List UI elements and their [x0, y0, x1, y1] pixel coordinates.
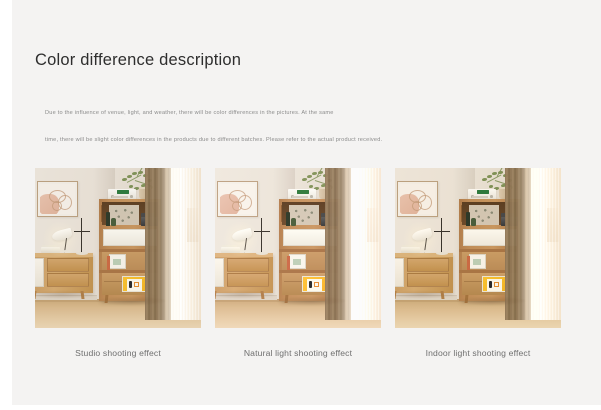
poster-mark-outline [494, 282, 499, 287]
books-on-nightstand [41, 247, 60, 253]
bookshelf-shadow [275, 296, 347, 306]
stand-horizontal [254, 231, 270, 232]
book-stack [109, 254, 126, 269]
gallery-caption: Indoor light shooting effect [395, 348, 561, 358]
stand-vertical [81, 218, 82, 254]
yellow-poster [302, 276, 326, 292]
green-vase [471, 218, 476, 226]
product-photo-indoor-light[interactable] [395, 168, 561, 328]
stereo-tray [112, 196, 128, 198]
art-line-3 [52, 201, 62, 211]
poster-mark-outline [314, 282, 319, 287]
stand-vertical [441, 218, 442, 254]
room-scene [35, 168, 201, 328]
nightstand-drawer-2 [407, 273, 449, 287]
green-vase [291, 218, 296, 226]
book-stack [469, 254, 486, 269]
stand-vertical [261, 218, 262, 254]
stand-horizontal [74, 231, 90, 232]
shelf-handle-left [461, 205, 463, 222]
nightstand-drawer-1 [47, 258, 89, 272]
stereo-knob-right [490, 195, 493, 198]
poster-mark-dark [129, 281, 132, 288]
book-stack [289, 254, 306, 269]
framed-art-icon [37, 181, 78, 217]
shelf-handle-left [281, 205, 283, 222]
nightstand-drawer-1 [227, 258, 269, 272]
sheer-curtain [171, 168, 201, 320]
product-photo-natural-light[interactable] [215, 168, 381, 328]
books-on-nightstand [221, 247, 240, 253]
stand-base [256, 252, 268, 255]
nightstand-shadow [215, 290, 273, 299]
framed-art-icon [397, 181, 438, 217]
stand-base [76, 252, 88, 255]
books-on-nightstand [401, 247, 420, 253]
nightstand-drawer-1 [407, 258, 449, 272]
stereo-tray [472, 196, 488, 198]
green-vase [111, 218, 116, 226]
image-gallery: Studio shooting effect [35, 168, 565, 368]
nightstand-drawer-2 [227, 273, 269, 287]
gallery-caption: Studio shooting effect [35, 348, 201, 358]
nightstand-drawer-2 [47, 273, 89, 287]
dark-bottle [106, 212, 110, 226]
page-title: Color difference description [35, 51, 241, 70]
lamp-base [241, 250, 252, 253]
gallery-item-natural-light[interactable]: Natural light shooting effect [215, 168, 381, 328]
stereo-display [477, 190, 489, 194]
page-root: Color difference description Due to the … [0, 0, 601, 410]
nightstand [395, 253, 453, 293]
sheer-curtain [351, 168, 381, 320]
description-line-1: Due to the influence of venue, light, an… [45, 110, 334, 116]
nightstand-door [35, 258, 44, 287]
gallery-item-indoor-light[interactable]: Indoor light shooting effect [395, 168, 561, 328]
product-photo-studio[interactable] [35, 168, 201, 328]
nightstand [35, 253, 93, 293]
framed-art-icon [217, 181, 258, 217]
room-scene [395, 168, 561, 328]
poster-mark-dark [309, 281, 312, 288]
poster-mark-dark [489, 281, 492, 288]
stereo-display [117, 190, 129, 194]
art-line-3 [232, 201, 242, 211]
lamp-base [61, 250, 72, 253]
stereo-knob-right [130, 195, 133, 198]
dark-bottle [466, 212, 470, 226]
stand-base [436, 252, 448, 255]
yellow-poster [122, 276, 146, 292]
art-line-3 [412, 201, 422, 211]
bookshelf-shadow [455, 296, 527, 306]
art-mat [400, 184, 435, 214]
lamp-base [421, 250, 432, 253]
stereo-knob-right [310, 195, 313, 198]
nightstand-shadow [35, 290, 93, 299]
sheer-curtain [531, 168, 561, 320]
art-mat [220, 184, 255, 214]
bookshelf-shadow [95, 296, 167, 306]
gallery-caption: Natural light shooting effect [215, 348, 381, 358]
gallery-item-studio[interactable]: Studio shooting effect [35, 168, 201, 328]
description-line-2: time, there will be slight color differe… [45, 137, 382, 143]
poster-mark-outline [134, 282, 139, 287]
nightstand-door [215, 258, 224, 287]
art-mat [40, 184, 75, 214]
room-scene [215, 168, 381, 328]
nightstand-shadow [395, 290, 453, 299]
shelf-handle-left [101, 205, 103, 222]
stereo-tray [292, 196, 308, 198]
stand-horizontal [434, 231, 450, 232]
yellow-poster [482, 276, 506, 292]
nightstand-door [395, 258, 404, 287]
dark-bottle [286, 212, 290, 226]
nightstand [215, 253, 273, 293]
stereo-display [297, 190, 309, 194]
